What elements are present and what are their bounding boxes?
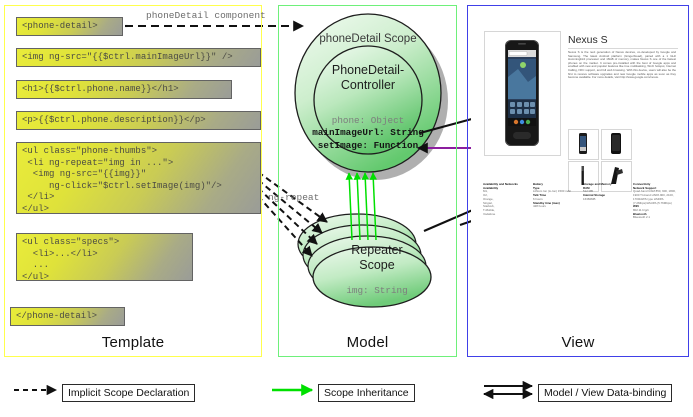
- model-field-set-image: setImage: Function: [288, 140, 448, 151]
- rendered-view: Nexus S Nexus S is the next generation o…: [471, 9, 685, 331]
- code-block-phone-detail-close: </phone-detail>: [10, 307, 125, 326]
- code-block-main-image: <img ng-src="{{$ctrl.mainImageUrl}}" />: [16, 48, 261, 67]
- spec-column-0: Availability and NetworksAvailabilityM1,…: [483, 183, 527, 216]
- code-block-specs: <ul class="specs"> <li>...</li> ... </ul…: [16, 233, 193, 281]
- spec-row-value: M1, O2, Orange, Singtel, StarHub, T-Mobi…: [483, 190, 527, 216]
- spec-row-value: 16384MB: [583, 198, 627, 202]
- spec-row-value: 428 hours: [533, 205, 577, 209]
- model-field-main-image-url: mainImageUrl: String: [288, 127, 448, 138]
- legend-item-implicit-scope: Implicit Scope Declaration: [62, 384, 195, 402]
- spec-column-2: Storage and MemoryRAM512 MBInternal Stor…: [583, 183, 627, 202]
- code-block-phone-detail-open: <phone-detail>: [16, 17, 123, 36]
- spec-column-3: ConnectivityNetwork SupportQuad-band GSM…: [633, 183, 677, 220]
- model-field-phone: phone: Object: [288, 115, 448, 126]
- panel-label-template: Template: [4, 334, 262, 351]
- thumb-image-1: [569, 130, 596, 157]
- view-phone-description: Nexus S is the next generation of Nexus …: [568, 51, 676, 80]
- phonedetail-component-label: phoneDetail component: [146, 10, 266, 21]
- thumbnail-2[interactable]: [601, 129, 632, 160]
- title-divider: [568, 48, 678, 49]
- panel-model: [278, 5, 457, 357]
- diagram-canvas: Template Model View <phone-detail> <img …: [0, 0, 693, 417]
- spec-row-value: Quad-band GSM 850, 900, 1800, 1900 Tri-b…: [633, 190, 677, 205]
- legend-item-data-binding: Model / View Data-binding: [538, 384, 672, 402]
- spec-row-value: Bluetooth 2.1: [633, 216, 677, 220]
- panel-label-view: View: [467, 334, 689, 351]
- code-block-phone-name: <h1>{{$ctrl.phone.name}}</h1>: [16, 80, 232, 99]
- ng-repeat-label: ng-repeat: [268, 192, 319, 203]
- spec-column-1: BatteryTypeLithium Ion (Li-Ion) 1500 mAh…: [533, 183, 577, 209]
- panel-label-model: Model: [278, 334, 457, 351]
- main-phone-image[interactable]: [484, 31, 561, 156]
- code-block-phone-thumbs: <ul class="phone-thumbs"> <li ng-repeat=…: [16, 142, 261, 214]
- thumbnail-1[interactable]: [568, 129, 599, 160]
- thumb-image-2: [602, 130, 629, 157]
- model-field-img: img: String: [322, 285, 432, 296]
- code-block-phone-description: <p>{{$ctrl.phone.description}}</p>: [16, 111, 261, 130]
- phone-photo-svg: [485, 32, 558, 153]
- view-phone-name: Nexus S: [568, 34, 608, 46]
- legend-item-scope-inheritance: Scope Inheritance: [318, 384, 415, 402]
